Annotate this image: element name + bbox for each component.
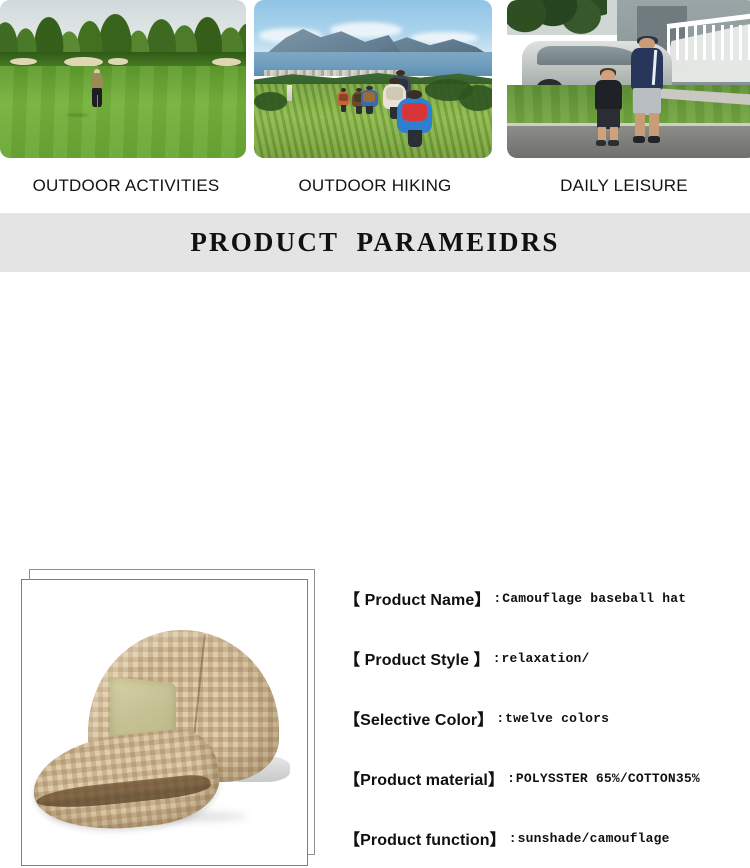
street-walk-photo xyxy=(507,0,750,158)
param-label: 【Product function】 xyxy=(344,826,506,850)
hiker-legs xyxy=(341,105,346,112)
adult-leg xyxy=(635,113,645,138)
param-row-product-style: 【 Product Style 】 : relaxation/ xyxy=(344,628,744,688)
param-row-product-name: 【 Product Name】 : Camouflage baseball ha… xyxy=(344,568,744,628)
backpack xyxy=(363,92,375,101)
param-separator: : xyxy=(504,771,516,786)
child-shoe xyxy=(596,140,606,146)
product-parameter-list: 【 Product Name】 : Camouflage baseball ha… xyxy=(344,568,744,868)
param-label: 【Selective Color】 xyxy=(344,706,493,730)
hiker-head xyxy=(389,78,399,85)
sand-bunker xyxy=(212,58,242,66)
child-shoe xyxy=(608,140,618,146)
param-value: twelve colors xyxy=(505,711,609,726)
hero-caption-row: OUTDOOR ACTIVITIES OUTDOOR HIKING DAILY … xyxy=(0,160,750,212)
child-shorts xyxy=(597,109,620,129)
porch-railing xyxy=(667,25,750,60)
param-value: Camouflage baseball hat xyxy=(502,591,686,606)
param-value: relaxation/ xyxy=(502,651,590,666)
caption-daily-leisure: DAILY LEISURE xyxy=(498,160,750,212)
hiker-figure xyxy=(337,92,349,106)
hero-photo-outdoor-activities[interactable] xyxy=(0,0,246,158)
fairway xyxy=(0,66,246,158)
child-figure xyxy=(592,70,625,146)
param-separator: : xyxy=(490,651,502,666)
hero-photo-strip xyxy=(0,0,750,160)
caption-outdoor-activities: OUTDOOR ACTIVITIES xyxy=(0,160,252,212)
param-label: 【 Product Name】 xyxy=(344,586,490,610)
shrub xyxy=(254,92,287,111)
hiker-head xyxy=(341,88,346,92)
red-backpack xyxy=(402,103,428,121)
sand-bunker xyxy=(108,58,128,64)
caption-outdoor-hiking: OUTDOOR HIKING xyxy=(252,160,498,212)
section-title-band: PRODUCT PARAMEIDRS xyxy=(0,213,750,272)
child-shirt xyxy=(595,80,622,110)
cap-illustration xyxy=(28,626,302,837)
hiker-legs xyxy=(408,130,422,147)
param-value: POLYSSTER 65%/COTTON35% xyxy=(516,771,700,786)
product-parameters-section: 【 Product Name】 : Camouflage baseball ha… xyxy=(0,272,750,600)
hiker-head xyxy=(407,90,423,99)
param-label: 【Product material】 xyxy=(344,766,504,790)
param-row-product-material: 【Product material】 : POLYSSTER 65%/COTTO… xyxy=(344,748,744,808)
golfer-figure xyxy=(86,73,108,108)
param-value: sunshade/camouflage xyxy=(518,831,670,846)
hiker-legs xyxy=(366,106,373,114)
hero-photo-outdoor-hiking[interactable] xyxy=(254,0,492,158)
golf-course-photo xyxy=(0,0,246,158)
param-separator: : xyxy=(490,591,502,606)
shrub xyxy=(459,85,492,110)
radio-tower xyxy=(287,85,292,101)
hiker-figure-foreground xyxy=(397,98,433,133)
adult-shirt xyxy=(631,48,663,90)
adult-leg xyxy=(649,113,659,138)
param-separator: : xyxy=(506,831,518,846)
hiker-figure xyxy=(361,90,378,107)
hero-photo-daily-leisure[interactable] xyxy=(507,0,750,158)
adult-shorts xyxy=(633,88,662,115)
golfer-leg-gap xyxy=(97,95,98,108)
car-windows xyxy=(537,46,637,65)
param-row-selective-color: 【Selective Color】 : twelve colors xyxy=(344,688,744,748)
sand-bunker xyxy=(10,58,37,65)
adult-figure xyxy=(627,38,667,142)
param-label: 【 Product Style 】 xyxy=(344,646,490,670)
param-separator: : xyxy=(493,711,505,726)
backpack xyxy=(339,94,348,101)
product-photo-camouflage-cap xyxy=(22,580,307,865)
adult-shoe xyxy=(633,136,645,143)
adult-shoe xyxy=(648,136,660,143)
golfer-torso xyxy=(91,73,103,90)
section-title: PRODUCT PARAMEIDRS xyxy=(190,227,559,258)
hiking-photo xyxy=(254,0,492,158)
param-row-product-function: 【Product function】 : sunshade/camouflage xyxy=(344,808,744,868)
product-image-frame-front[interactable] xyxy=(21,579,308,866)
